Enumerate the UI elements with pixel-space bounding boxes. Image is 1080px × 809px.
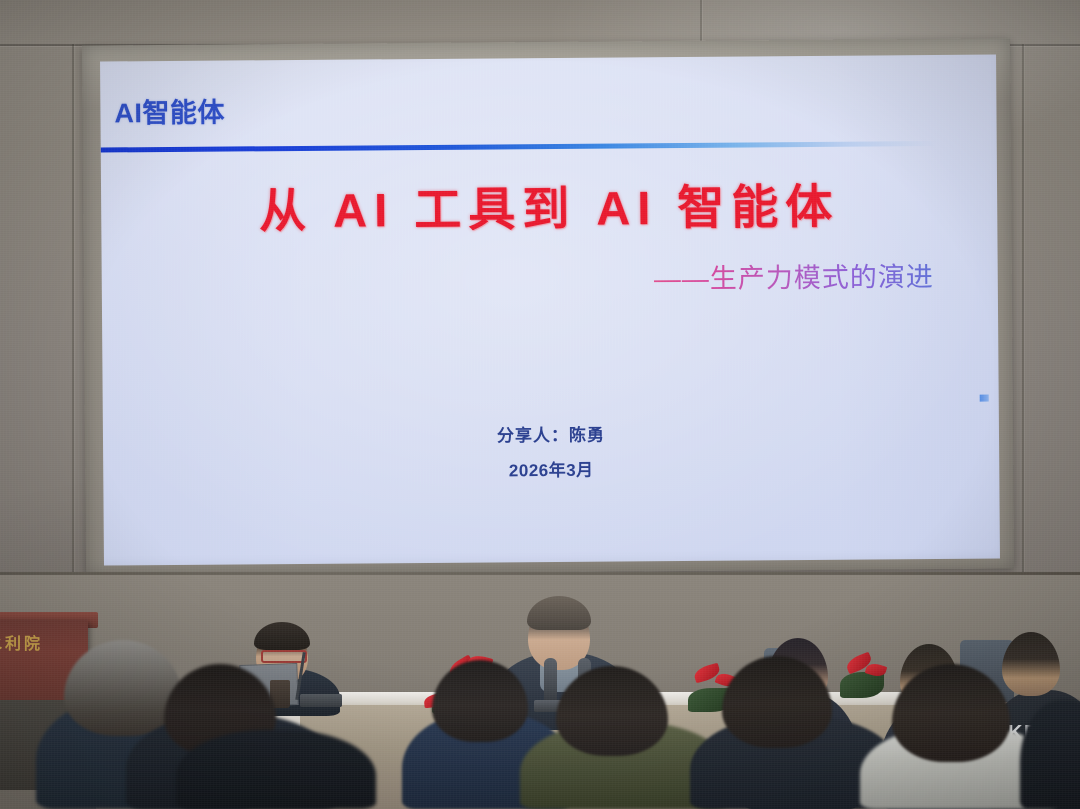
audience-front-body bbox=[176, 730, 376, 809]
microphone-base-left bbox=[300, 694, 342, 707]
microphone-center-left bbox=[544, 658, 557, 704]
podium-institution-text: 水利院 bbox=[0, 630, 82, 654]
slide-edge-artifact bbox=[980, 395, 989, 402]
wall-seam-vertical-top bbox=[700, 0, 702, 44]
slide-presenter-label: 分享人：陈勇 bbox=[103, 417, 999, 449]
slide-divider-rule bbox=[101, 141, 937, 153]
panelist-left-glasses bbox=[261, 650, 307, 663]
screen-bottom-edge bbox=[0, 572, 1080, 575]
slide-main-title: 从 AI 工具到 AI 智能体 bbox=[101, 166, 998, 242]
screenshot-root: AI智能体 从 AI 工具到 AI 智能体 ——生产力模式的演进 分享人：陈勇 … bbox=[0, 0, 1080, 809]
slide-subtitle: ——生产力模式的演进 bbox=[654, 255, 934, 296]
wall-seam-vertical-left bbox=[72, 44, 74, 604]
slide-date-label: 2026年3月 bbox=[103, 452, 999, 484]
presentation-slide[interactable]: AI智能体 从 AI 工具到 AI 智能体 ——生产力模式的演进 分享人：陈勇 … bbox=[100, 54, 1000, 565]
projection-glow bbox=[100, 54, 1000, 565]
slide-header-label: AI智能体 bbox=[114, 91, 225, 131]
